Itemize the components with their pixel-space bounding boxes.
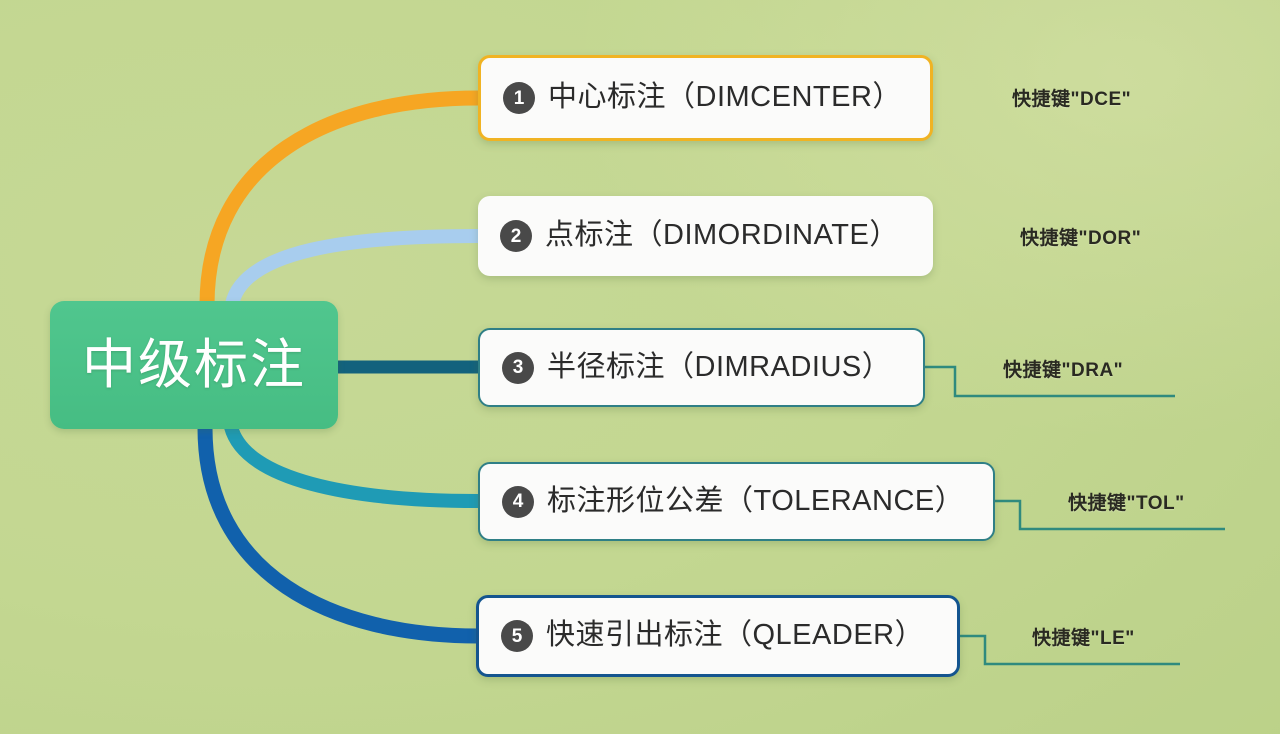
topic-number-badge: 4 xyxy=(502,486,534,518)
root-node[interactable]: 中级标注 xyxy=(50,301,338,429)
topic-node-1[interactable]: 1 中心标注（DIMCENTER） xyxy=(478,55,933,141)
shortcut-note-4: 快捷键"TOL" xyxy=(1068,488,1185,515)
topic-node-2[interactable]: 2 点标注（DIMORDINATE） xyxy=(478,196,933,276)
topic-node-label: 标注形位公差（TOLERANCE） xyxy=(547,486,964,518)
shortcut-note-1: 快捷键"DCE" xyxy=(1012,84,1131,111)
mindmap-canvas: 中级标注 1 中心标注（DIMCENTER） 快捷键"DCE" 2 点标注（DI… xyxy=(0,0,1280,734)
topic-node-label: 快速引出标注（QLEADER） xyxy=(546,620,924,652)
topic-node-4[interactable]: 4 标注形位公差（TOLERANCE） xyxy=(478,462,995,541)
connector-branch-1 xyxy=(207,98,478,305)
topic-node-label: 半径标注（DIMRADIUS） xyxy=(547,352,891,384)
topic-node-label: 中心标注（DIMCENTER） xyxy=(548,82,902,114)
topic-node-3[interactable]: 3 半径标注（DIMRADIUS） xyxy=(478,328,925,407)
topic-number-badge: 5 xyxy=(501,620,533,652)
topic-number-badge: 3 xyxy=(502,352,534,384)
connector-branch-4 xyxy=(231,427,478,501)
connector-branch-2 xyxy=(232,236,478,304)
root-node-label: 中级标注 xyxy=(82,338,306,392)
shortcut-note-3: 快捷键"DRA" xyxy=(1003,355,1123,382)
shortcut-note-2: 快捷键"DOR" xyxy=(1020,223,1141,250)
shortcut-note-5: 快捷键"LE" xyxy=(1032,623,1135,650)
connector-branch-5 xyxy=(205,428,478,636)
topic-node-label: 点标注（DIMORDINATE） xyxy=(545,220,899,252)
topic-node-5[interactable]: 5 快速引出标注（QLEADER） xyxy=(476,595,960,677)
topic-number-badge: 2 xyxy=(500,220,532,252)
topic-number-badge: 1 xyxy=(503,82,535,114)
